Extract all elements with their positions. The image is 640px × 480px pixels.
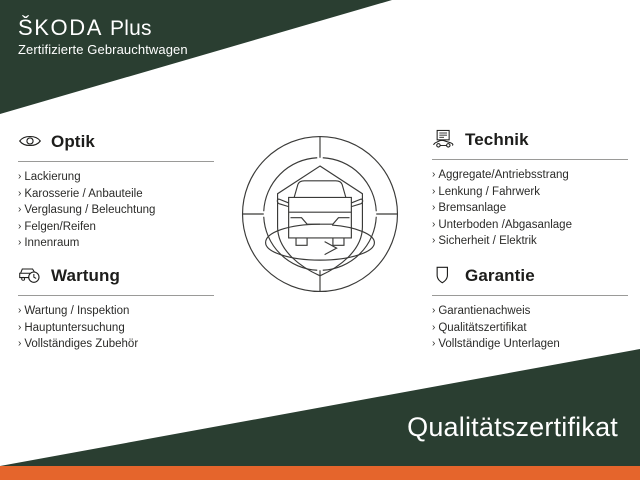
section-garantie-list: ›Garantienachweis ›Qualitätszertifikat ›…: [432, 303, 628, 353]
car-document-icon: [432, 128, 456, 150]
car-grille: [290, 218, 349, 224]
chevron-icon: ›: [18, 219, 21, 236]
emblem-orbit-ellipse: [266, 224, 375, 260]
chevron-icon: ›: [18, 202, 21, 219]
emblem-arrow-head: [325, 242, 337, 255]
emblem-shield: [278, 166, 363, 276]
chevron-icon: ›: [432, 320, 435, 337]
brand-logo: ŠKODA Plus Zertifizierte Gebrauchtwagen: [18, 17, 188, 58]
chevron-icon: ›: [432, 184, 435, 201]
car-mirror-left: [277, 199, 288, 206]
car-wheel-left: [296, 238, 307, 245]
section-technik-header: Technik: [432, 126, 628, 152]
list-item-label: Vollständige Unterlagen: [438, 336, 559, 353]
list-item: ›Garantienachweis: [432, 303, 628, 320]
list-item: ›Innenraum: [18, 235, 214, 252]
list-item-label: Bremsanlage: [438, 200, 506, 217]
section-wartung-header: Wartung: [18, 262, 214, 288]
chevron-icon: ›: [432, 167, 435, 184]
chevron-icon: ›: [432, 336, 435, 353]
list-item: ›Qualitätszertifikat: [432, 320, 628, 337]
car-roof: [294, 181, 346, 198]
certificate-page: ŠKODA Plus Zertifizierte Gebrauchtwagen …: [0, 0, 640, 480]
list-item-label: Garantienachweis: [438, 303, 530, 320]
service-clock-icon: [18, 264, 42, 286]
list-item: ›Lackierung: [18, 169, 214, 186]
list-item: ›Sicherheit / Elektrik: [432, 233, 628, 250]
section-technik-list: ›Aggregate/Antriebsstrang ›Lenkung / Fah…: [432, 167, 628, 250]
list-item: ›Wartung / Inspektion: [18, 303, 214, 320]
list-item-label: Lackierung: [24, 169, 80, 186]
brand-tagline: Zertifizierte Gebrauchtwagen: [18, 43, 188, 58]
section-optik-header: Optik: [18, 128, 214, 154]
chevron-icon: ›: [18, 235, 21, 252]
list-item: ›Karosserie / Anbauteile: [18, 186, 214, 203]
list-item-label: Unterboden /Abgasanlage: [438, 217, 572, 234]
section-technik-title: Technik: [465, 131, 529, 148]
section-optik-rule: [18, 161, 214, 162]
list-item-label: Hauptuntersuchung: [24, 320, 124, 337]
brand-name: ŠKODA: [18, 17, 103, 39]
list-item-label: Sicherheit / Elektrik: [438, 233, 536, 250]
car-mirror-right: [351, 199, 362, 206]
section-garantie-header: Garantie: [432, 262, 628, 288]
chevron-icon: ›: [432, 303, 435, 320]
list-item-label: Karosserie / Anbauteile: [24, 186, 142, 203]
list-item: ›Lenkung / Fahrwerk: [432, 184, 628, 201]
outer-ring-arc-tr: [320, 137, 397, 214]
chevron-icon: ›: [18, 303, 21, 320]
chevron-icon: ›: [18, 186, 21, 203]
list-item: ›Unterboden /Abgasanlage: [432, 217, 628, 234]
list-item: ›Vollständiges Zubehör: [18, 336, 214, 353]
footer-title: Qualitätszertifikat: [407, 414, 618, 441]
list-item-label: Aggregate/Antriebsstrang: [438, 167, 568, 184]
outer-ring-arc-tl: [243, 137, 320, 214]
section-garantie-rule: [432, 295, 628, 296]
section-wartung: Wartung ›Wartung / Inspektion ›Hauptunte…: [18, 262, 214, 353]
section-technik-rule: [432, 159, 628, 160]
section-optik-list: ›Lackierung ›Karosserie / Anbauteile ›Ve…: [18, 169, 214, 252]
car-shield-inspection-emblem: [237, 131, 403, 297]
outer-ring-arc-br: [320, 214, 397, 291]
chevron-icon: ›: [432, 217, 435, 234]
list-item-label: Innenraum: [24, 235, 79, 252]
outer-ring-arc-bl: [243, 214, 320, 291]
section-wartung-list: ›Wartung / Inspektion ›Hauptuntersuchung…: [18, 303, 214, 353]
car-wheel-right: [333, 238, 344, 245]
chevron-icon: ›: [432, 200, 435, 217]
section-wartung-title: Wartung: [51, 267, 120, 284]
list-item: ›Aggregate/Antriebsstrang: [432, 167, 628, 184]
list-item-label: Vollständiges Zubehör: [24, 336, 138, 353]
section-garantie-title: Garantie: [465, 267, 535, 284]
chevron-icon: ›: [18, 320, 21, 337]
chevron-icon: ›: [18, 336, 21, 353]
list-item-label: Felgen/Reifen: [24, 219, 96, 236]
list-item: ›Bremsanlage: [432, 200, 628, 217]
chevron-icon: ›: [432, 233, 435, 250]
bottom-orange-bar: [0, 466, 640, 480]
brand-suffix: Plus: [110, 18, 152, 39]
list-item: ›Vollständige Unterlagen: [432, 336, 628, 353]
section-garantie: Garantie ›Garantienachweis ›Qualitätszer…: [432, 262, 628, 353]
chevron-icon: ›: [18, 169, 21, 186]
list-item-label: Lenkung / Fahrwerk: [438, 184, 540, 201]
list-item-label: Qualitätszertifikat: [438, 320, 526, 337]
eye-icon: [18, 130, 42, 152]
inner-ring-arc-br: [323, 217, 376, 270]
inner-ring-arc-tr: [323, 158, 376, 211]
shield-icon: [432, 264, 456, 286]
section-optik: Optik ›Lackierung ›Karosserie / Anbautei…: [18, 128, 214, 252]
list-item-label: Wartung / Inspektion: [24, 303, 129, 320]
section-optik-title: Optik: [51, 133, 95, 150]
section-technik: Technik ›Aggregate/Antriebsstrang ›Lenku…: [432, 126, 628, 250]
list-item-label: Verglasung / Beleuchtung: [24, 202, 155, 219]
list-item: ›Felgen/Reifen: [18, 219, 214, 236]
inner-ring-arc-tl: [264, 158, 317, 211]
list-item: ›Verglasung / Beleuchtung: [18, 202, 214, 219]
section-wartung-rule: [18, 295, 214, 296]
list-item: ›Hauptuntersuchung: [18, 320, 214, 337]
